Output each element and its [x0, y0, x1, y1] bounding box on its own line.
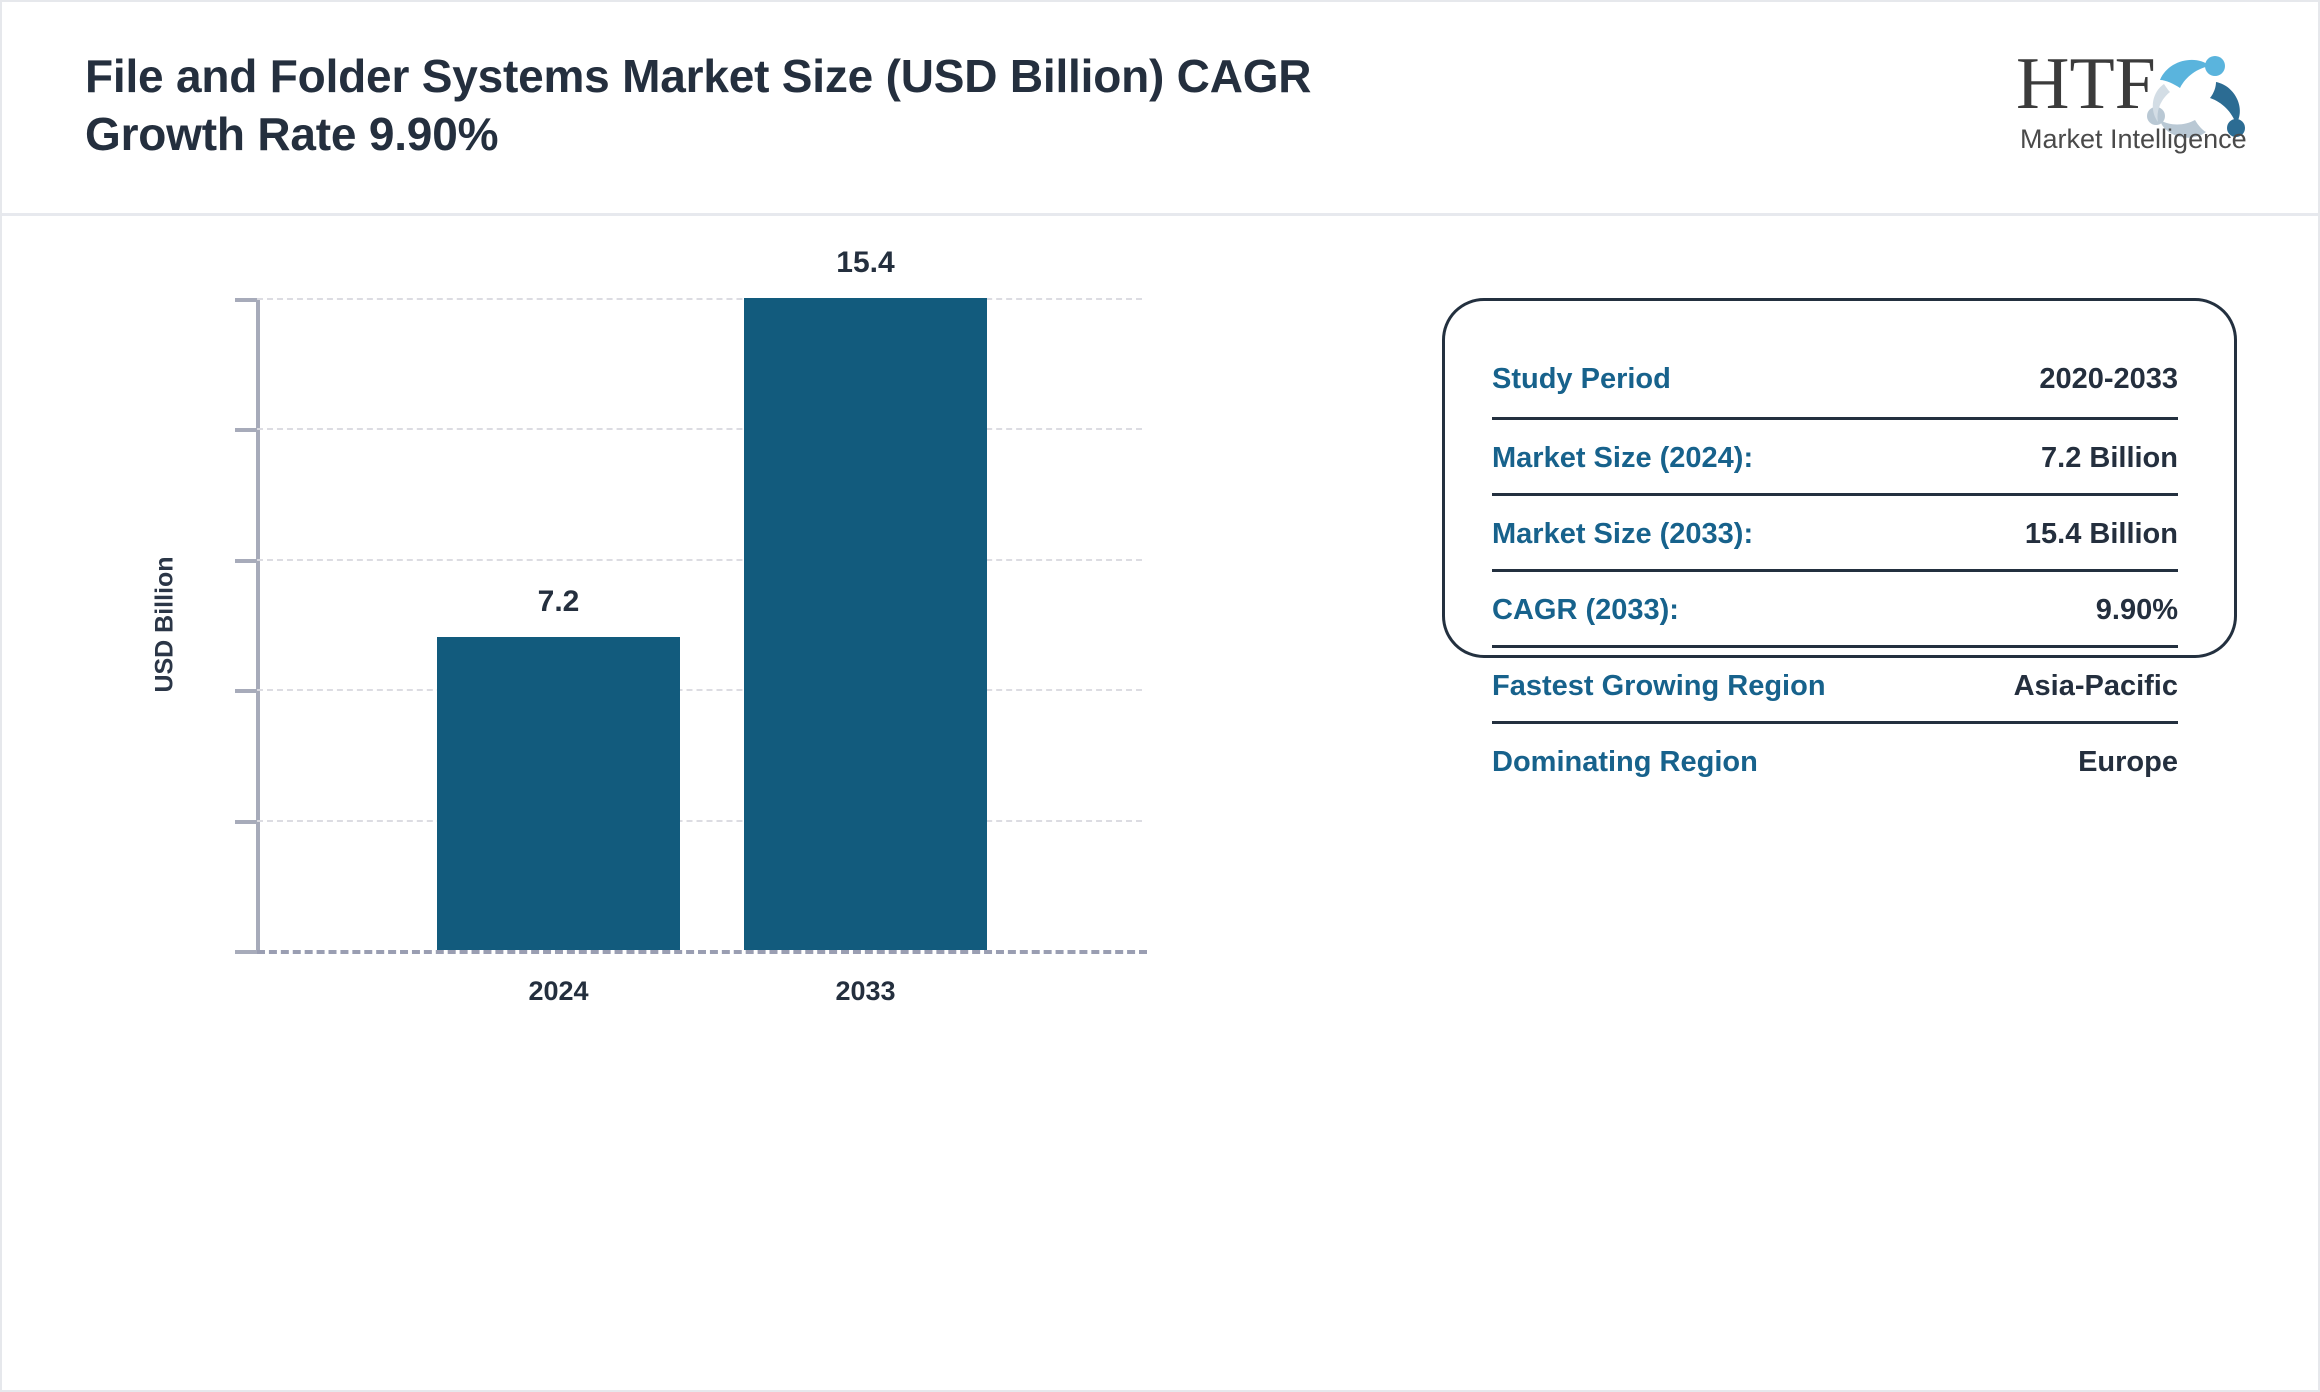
market-summary-rows: Study Period 2020-2033 Market Size (2024…	[1492, 341, 2178, 797]
row-label-market-size-2033: Market Size (2033):	[1492, 496, 1753, 551]
market-summary-card: Study Period 2020-2033 Market Size (2024…	[1442, 298, 2237, 658]
htf-market-intelligence-logo: HTF Market Intelligence	[2010, 36, 2260, 160]
row-value-study-period: 2020-2033	[2039, 341, 2178, 396]
y-tick-mark-6	[235, 689, 257, 693]
gridline-0	[257, 950, 1147, 954]
row-label-fastest-growing-region: Fastest Growing Region	[1492, 648, 1826, 703]
y-tick-mark-9	[235, 559, 257, 563]
bar-2024[interactable]	[437, 637, 680, 950]
logo-tagline-text: Market Intelligence	[2020, 124, 2247, 154]
page-header: File and Folder Systems Market Size (USD…	[2, 2, 2318, 216]
row-value-fastest-growing-region: Asia-Pacific	[2014, 648, 2178, 703]
table-row: Market Size (2033): 15.4 Billion	[1492, 493, 2178, 569]
table-row: Dominating Region Europe	[1492, 721, 2178, 797]
page-title: File and Folder Systems Market Size (USD…	[85, 48, 1335, 164]
bar-value-2024: 7.2	[449, 585, 669, 619]
y-tick-mark-0	[235, 950, 257, 954]
logo-wordmark-text: HTF	[2016, 43, 2156, 125]
gridline-9	[257, 559, 1142, 561]
bar-2033[interactable]	[744, 298, 987, 950]
y-axis-title: USD Billion	[145, 298, 185, 950]
row-label-dominating-region: Dominating Region	[1492, 724, 1758, 779]
row-value-cagr-2033: 9.90%	[2096, 572, 2178, 627]
gridline-6	[257, 689, 1142, 691]
row-value-market-size-2033: 15.4 Billion	[2025, 496, 2178, 551]
y-tick-mark-3	[235, 820, 257, 824]
row-label-cagr-2033: CAGR (2033):	[1492, 572, 1679, 627]
gridline-15	[257, 298, 1142, 300]
gridline-3	[257, 820, 1142, 822]
table-row: Study Period 2020-2033	[1492, 341, 2178, 417]
x-tick-label-2033: 2033	[746, 976, 986, 1007]
y-tick-mark-15	[235, 298, 257, 302]
table-row: Market Size (2024): 7.2 Billion	[1492, 417, 2178, 493]
logo-svg: HTF Market Intelligence	[2010, 36, 2260, 160]
y-axis-title-text: USD Billion	[151, 556, 180, 692]
row-label-market-size-2024: Market Size (2024):	[1492, 420, 1753, 475]
table-row: CAGR (2033): 9.90%	[1492, 569, 2178, 645]
table-row: Fastest Growing Region Asia-Pacific	[1492, 645, 2178, 721]
x-tick-label-2024: 2024	[439, 976, 679, 1007]
row-label-study-period: Study Period	[1492, 341, 1671, 396]
y-axis-line	[256, 298, 260, 950]
y-tick-mark-12	[235, 428, 257, 432]
chart-page: File and Folder Systems Market Size (USD…	[0, 0, 2320, 1392]
gridline-12	[257, 428, 1142, 430]
bar-value-2033: 15.4	[756, 246, 976, 280]
row-value-dominating-region: Europe	[2078, 724, 2178, 779]
row-value-market-size-2024: 7.2 Billion	[2041, 420, 2178, 475]
plot-area: 15 12 9 6 3 0 7.2 15.4 2024 2033	[257, 298, 1142, 950]
bar-chart: USD Billion 15 12 9 6 3 0	[2, 216, 1402, 1392]
